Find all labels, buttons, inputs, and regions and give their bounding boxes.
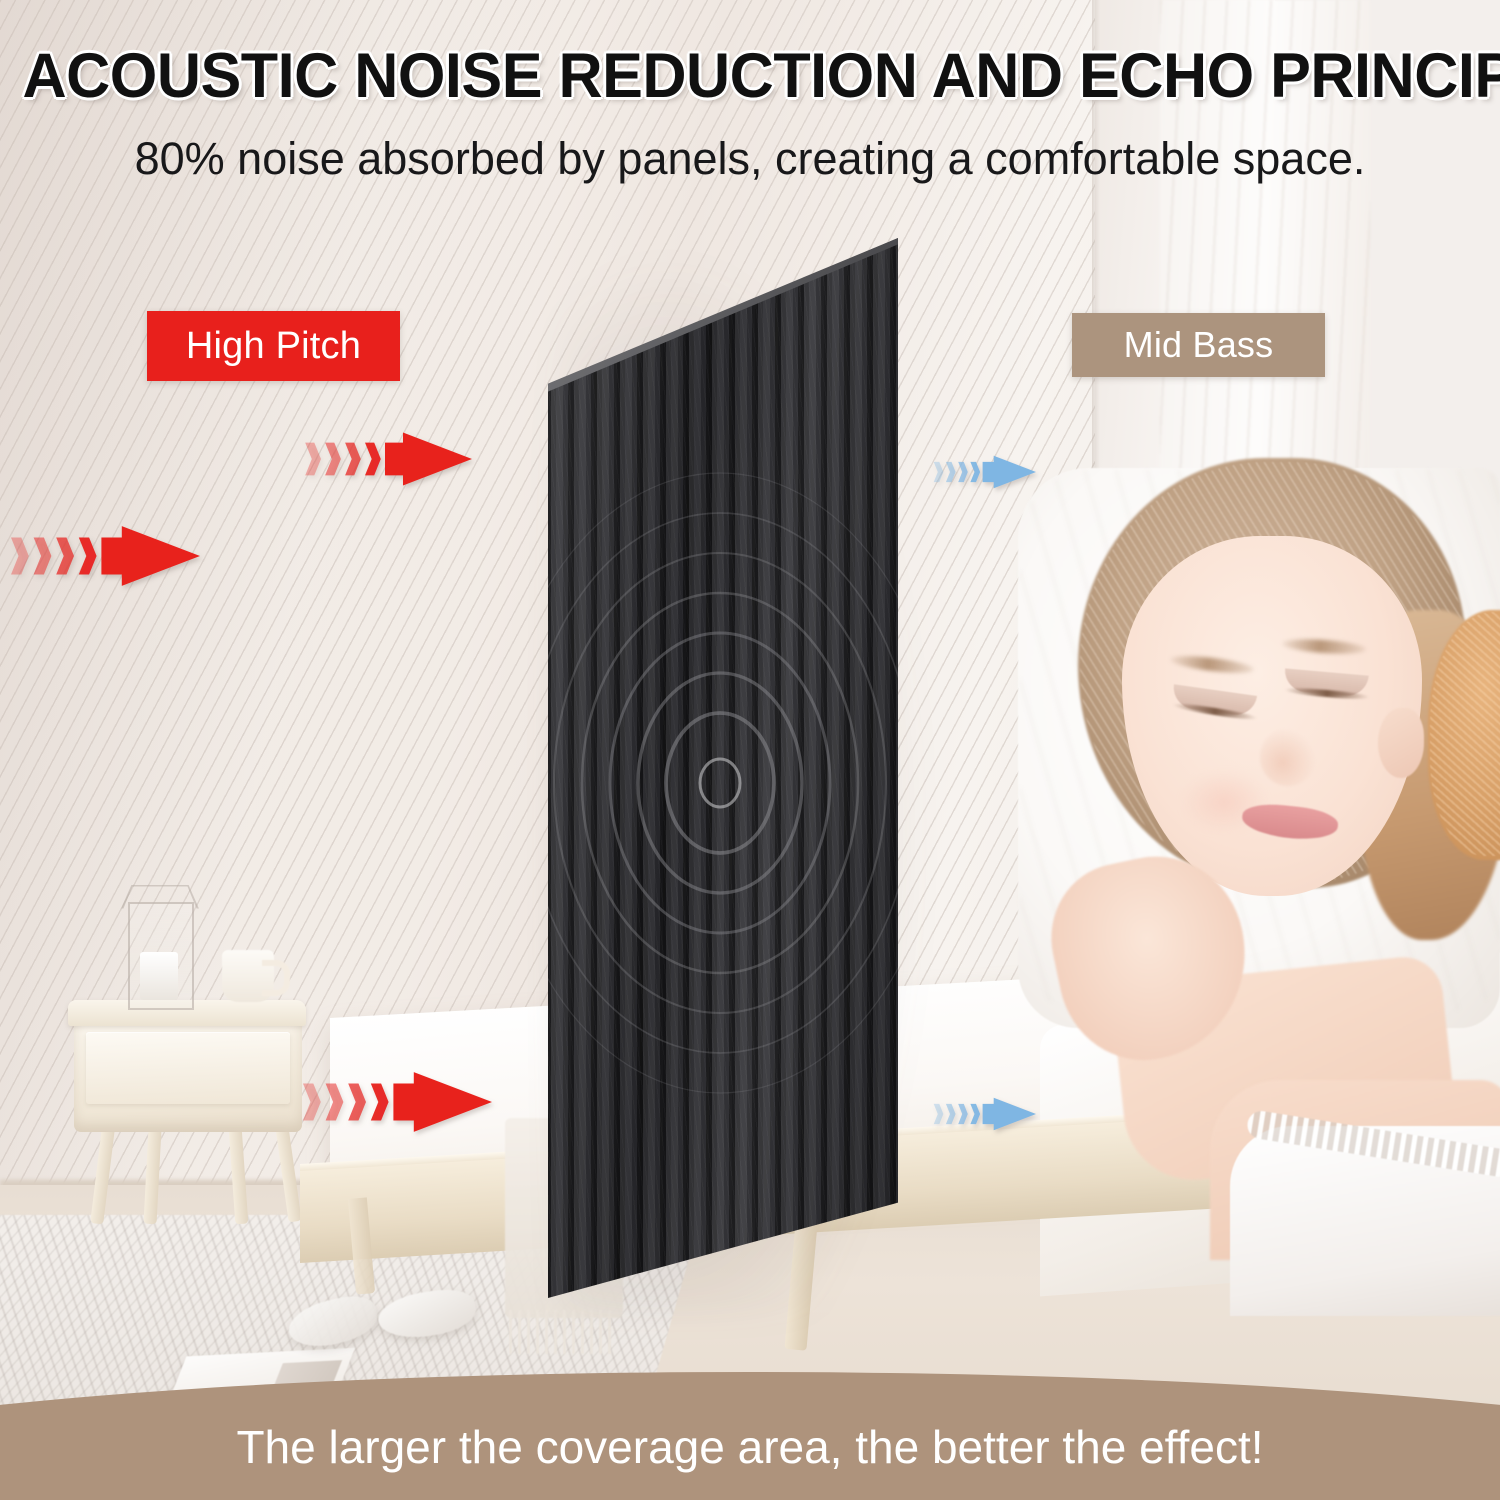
page-title: ACOUSTIC NOISE REDUCTION AND ECHO PRINCI… [23,40,1478,112]
sleeping-child [1060,440,1500,1240]
mid-bass-badge: Mid Bass [1072,313,1325,377]
arrow-red-left-upper [30,512,200,605]
nightstand-drawer [86,1032,290,1104]
acoustic-slat-panel [548,238,898,1298]
arrow-red-top [322,420,472,503]
child-nose [1260,728,1316,786]
arrow-blue-upper [944,448,1036,501]
footer-caption: The larger the coverage area, the better… [0,1420,1500,1474]
outgoing-sound-waveform [876,735,1126,855]
arrow-red-bottom [322,1058,492,1151]
mid-bass-label: Mid Bass [1124,324,1274,366]
page-subtitle: 80% noise absorbed by panels, creating a… [0,133,1500,185]
arrow-blue-lower [944,1090,1036,1143]
child-ear [1378,708,1424,778]
high-pitch-badge: High Pitch [147,311,400,381]
infographic-canvas: High Pitch Mid Bass ACOUSTIC NOISE REDUC… [0,0,1500,1500]
high-pitch-label: High Pitch [186,325,361,368]
panel-shading [548,238,898,1298]
